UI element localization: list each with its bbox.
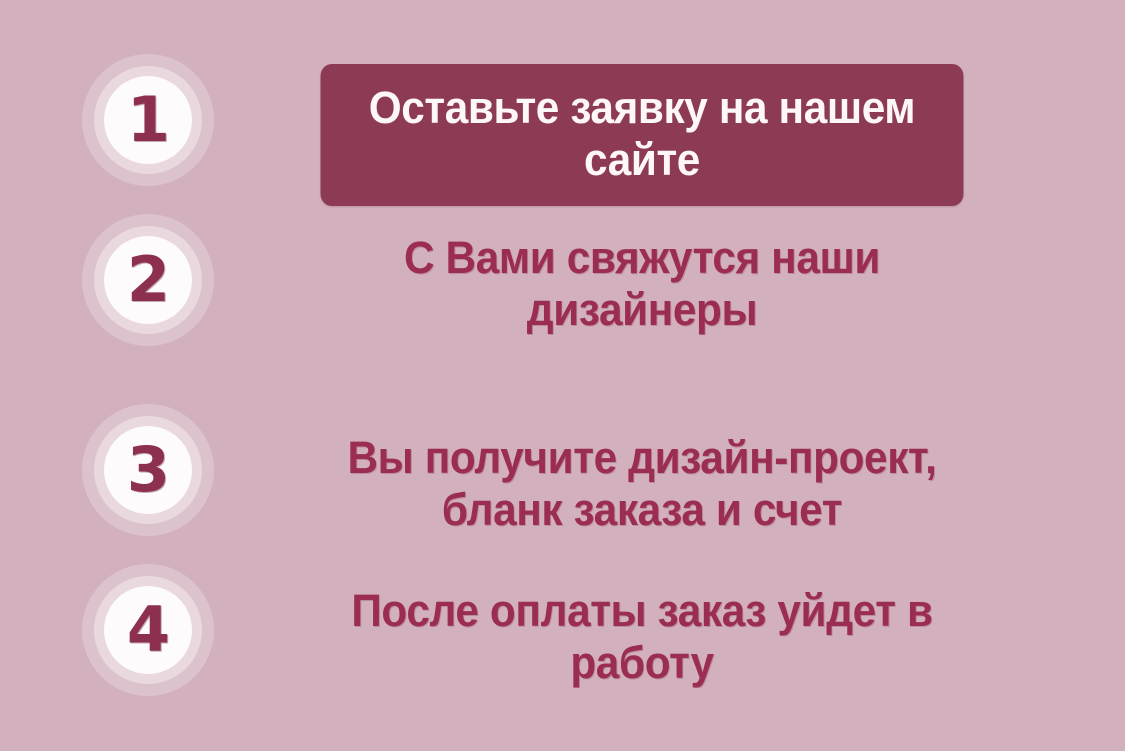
steps-infographic: 1 Оставьте заявку на нашем сайте 2 С Вам…	[0, 0, 1125, 751]
step-label-2: С Вами свяжутся наши дизайнеры	[321, 232, 964, 336]
step-badge-3: 3	[82, 404, 214, 536]
step-label-1: Оставьте заявку на нашем сайте	[321, 64, 964, 206]
badge-core-circle: 2	[104, 236, 192, 324]
step-label-3: Вы получите дизайн-проект, бланк заказа …	[321, 432, 964, 536]
badge-core-circle: 3	[104, 426, 192, 514]
step-label-4: После оплаты заказ уйдет в работу	[321, 585, 964, 689]
step-number-4: 4	[127, 599, 169, 661]
step-number-3: 3	[127, 439, 169, 501]
step-badge-1: 1	[82, 54, 214, 186]
step-number-1: 1	[127, 89, 169, 151]
step-badge-4: 4	[82, 564, 214, 696]
badge-core-circle: 4	[104, 586, 192, 674]
step-badge-2: 2	[82, 214, 214, 346]
step-number-2: 2	[127, 249, 169, 311]
badge-core-circle: 1	[104, 76, 192, 164]
